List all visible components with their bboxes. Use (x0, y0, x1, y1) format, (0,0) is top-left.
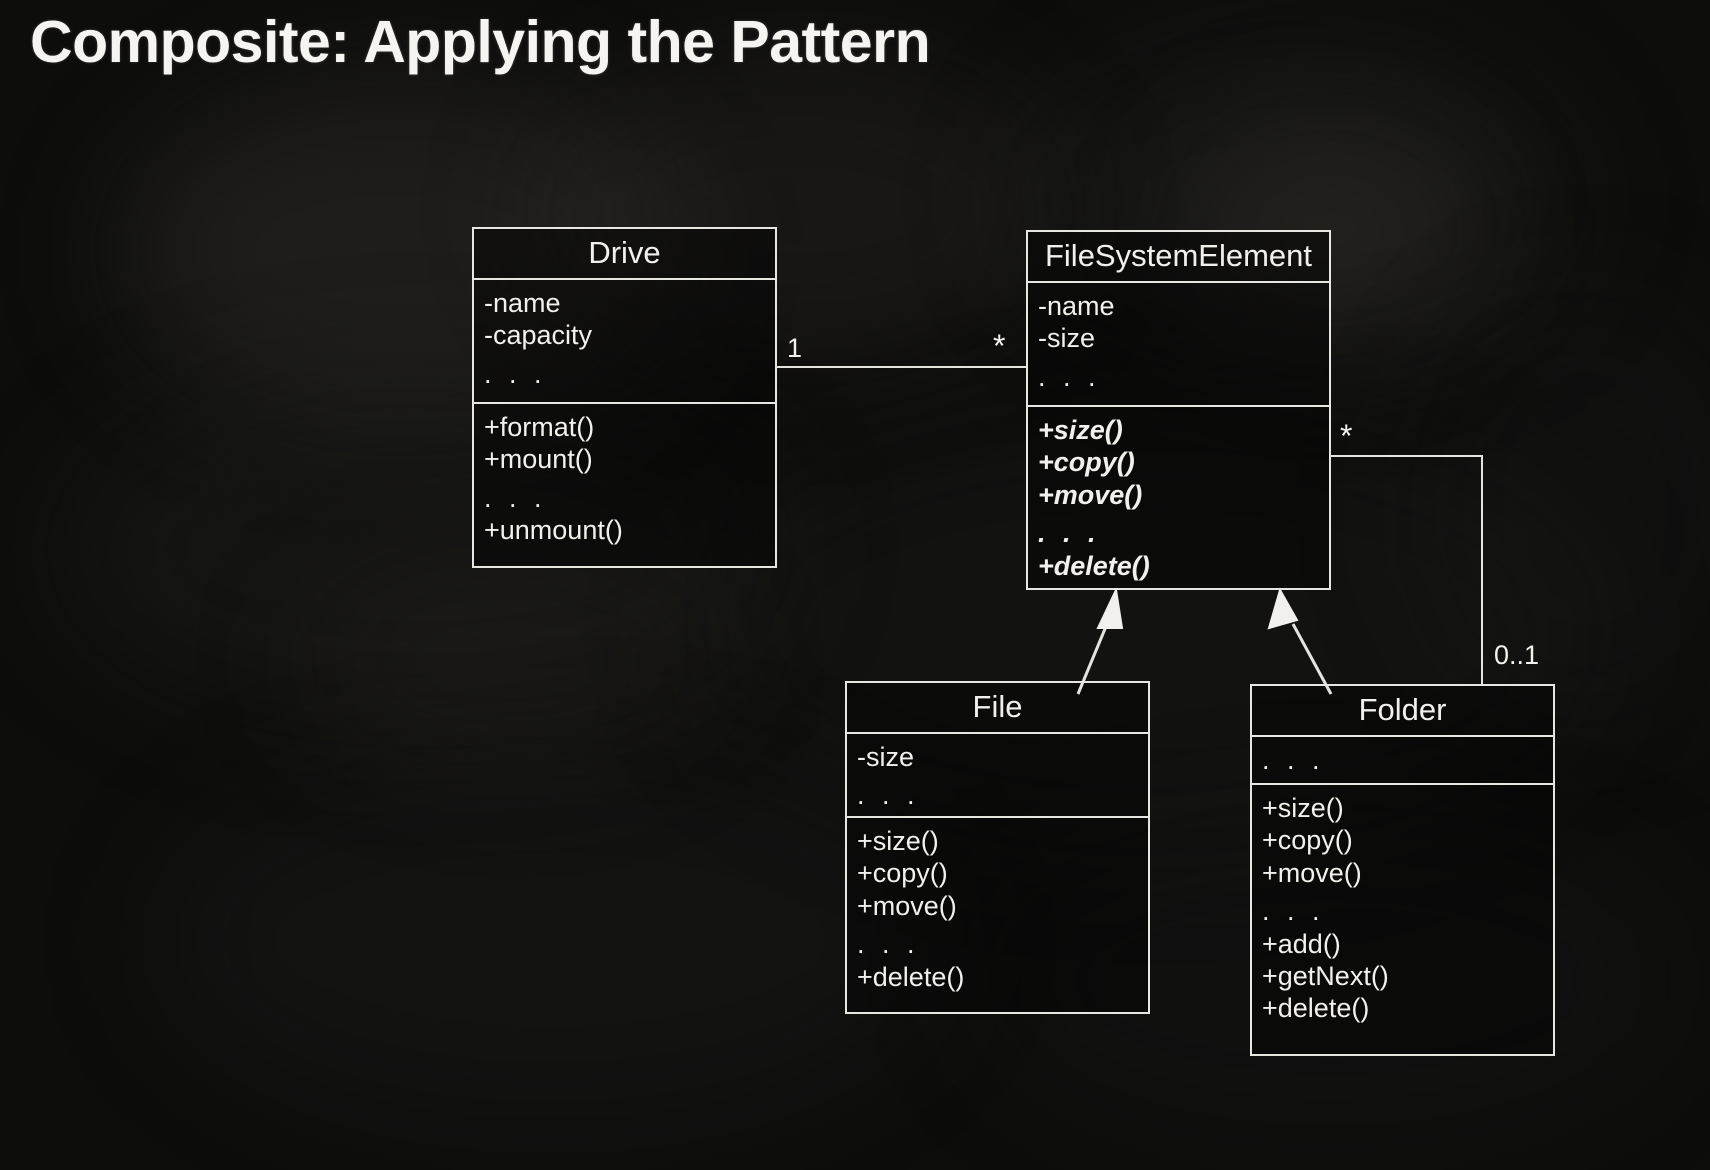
method-line: +unmount() (484, 514, 775, 546)
multiplicity-folder-contains: * (1340, 420, 1352, 452)
method-line: +format() (484, 411, 775, 443)
method-line: +size() (857, 825, 1148, 857)
background-blur-blob (300, 560, 720, 760)
attributes-compartment-filesystemelement: -name -size . . . (1028, 283, 1329, 407)
uml-class-folder: Folder . . . +size() +copy() +move() . .… (1250, 684, 1555, 1056)
method-line: +copy() (1038, 446, 1329, 478)
method-line: +getNext() (1262, 960, 1553, 992)
class-name-drive: Drive (474, 229, 775, 280)
background-blur-blob (160, 760, 940, 1120)
attribute-line: -size (857, 741, 1148, 773)
method-line: . . . (1038, 511, 1329, 549)
methods-compartment-filesystemelement: +size() +copy() +move() . . . +delete() (1028, 407, 1329, 592)
method-line: . . . (484, 476, 775, 514)
method-line: +size() (1038, 414, 1329, 446)
attribute-line: . . . (1038, 355, 1329, 393)
multiplicity-folder-parent: 0..1 (1494, 642, 1539, 669)
uml-class-drive: Drive -name -capacity . . . +format() +m… (472, 227, 777, 568)
attribute-line: -capacity (484, 319, 775, 351)
attribute-line: . . . (484, 352, 775, 390)
method-line: +delete() (1038, 550, 1329, 582)
generalization-arrow-folder (1255, 588, 1345, 698)
class-name-filesystemelement: FileSystemElement (1028, 232, 1329, 283)
attribute-line: -size (1038, 322, 1329, 354)
methods-compartment-file: +size() +copy() +move() . . . +delete() (847, 818, 1148, 1003)
method-line: +copy() (1262, 824, 1553, 856)
method-line: +move() (1038, 479, 1329, 511)
attribute-line: . . . (857, 773, 1148, 811)
method-line: +add() (1262, 928, 1553, 960)
method-line: +move() (1262, 857, 1553, 889)
attribute-line: -name (484, 287, 775, 319)
attribute-line: -name (1038, 290, 1329, 322)
method-line: . . . (857, 922, 1148, 960)
aggregation-line-horizontal (1331, 455, 1483, 457)
method-line: +copy() (857, 857, 1148, 889)
uml-class-filesystemelement: FileSystemElement -name -size . . . +siz… (1026, 230, 1331, 590)
generalization-arrow-file (1060, 588, 1130, 698)
slide-title: Composite: Applying the Pattern (30, 8, 930, 76)
method-line: +delete() (857, 961, 1148, 993)
aggregation-line-vertical (1481, 455, 1483, 685)
association-line-drive-filesystemelement (777, 366, 1027, 368)
multiplicity-drive-side: 1 (787, 335, 802, 362)
methods-compartment-drive: +format() +mount() . . . +unmount() (474, 404, 775, 557)
multiplicity-filesystemelement-side: * (993, 330, 1005, 362)
method-line: +delete() (1262, 992, 1553, 1024)
attribute-line: . . . (1262, 744, 1553, 776)
attributes-compartment-file: -size . . . (847, 734, 1148, 818)
attributes-compartment-folder: . . . (1252, 737, 1553, 785)
attributes-compartment-drive: -name -capacity . . . (474, 280, 775, 404)
uml-class-file: File -size . . . +size() +copy() +move()… (845, 681, 1150, 1014)
method-line: +mount() (484, 443, 775, 475)
slide-canvas: Composite: Applying the Pattern Drive -n… (0, 0, 1710, 1170)
method-line: +move() (857, 890, 1148, 922)
methods-compartment-folder: +size() +copy() +move() . . . +add() +ge… (1252, 785, 1553, 1035)
background-blur-blob (1420, 300, 1710, 720)
method-line: . . . (1262, 889, 1553, 927)
method-line: +size() (1262, 792, 1553, 824)
